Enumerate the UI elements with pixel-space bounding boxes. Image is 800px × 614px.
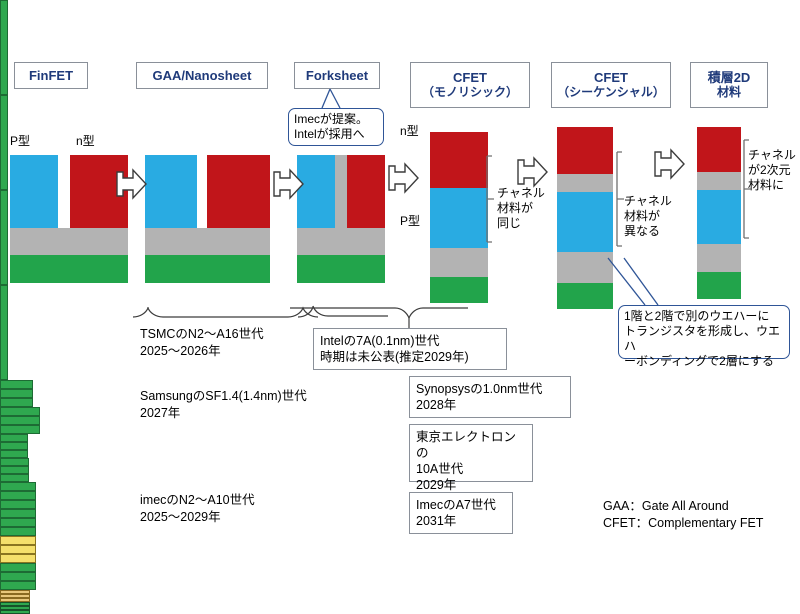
stacked2d-bonding-layer: [697, 172, 741, 190]
stacked2d-n-type-region: [697, 127, 741, 172]
title-forksheet-main: Forksheet: [306, 68, 368, 83]
legend-abbreviations: GAA：Gate All Around CFET：Complementary F…: [603, 498, 793, 532]
roadmap-box-tel: 東京エレクトロンの 10A世代 2029年: [409, 424, 533, 482]
roadmap-text-tsmc: TSMCのN2～A16世代 2025～2026年: [140, 326, 340, 360]
forksheet-p-type-region: [297, 155, 335, 228]
cfet-mono-nanosheet-p: [0, 527, 36, 536]
cfet-seq-p-type-region: [557, 192, 613, 252]
title-cfet-mono-sub: （モノリシック）: [422, 85, 518, 100]
gaa-nanosheet: [0, 398, 33, 407]
title-box-cfet-sequential: CFET （シーケンシャル）: [551, 62, 671, 108]
cfet-mono-nanosheet-p: [0, 509, 36, 518]
diagram-gaa-nanosheet: [0, 380, 800, 434]
forksheet-substrate: [297, 255, 385, 283]
cfet-seq-nanosheet-n: [0, 554, 36, 563]
gaa-substrate: [145, 255, 270, 283]
forksheet-n-type-region: [347, 155, 385, 228]
cfet-seq-isolation-lower: [557, 252, 613, 283]
title-box-stacked-2d: 積層2D 材料: [690, 62, 768, 108]
note-stacked2d-channel: チャネル が2次元 材料に: [748, 148, 800, 193]
forksheet-nanosheet: [0, 434, 28, 442]
cfet-seq-nanosheet-n: [0, 545, 36, 554]
finfet-fin: [0, 190, 8, 285]
roadmap-box-intel: Intelの7A(0.1nm)世代 時期は未公表(推定2029年): [313, 328, 507, 370]
gaa-isolation: [145, 228, 270, 255]
diagram-stacked-2d: [0, 590, 800, 614]
title-stacked2d-sub: 材料: [717, 85, 741, 100]
finfet-fin: [0, 0, 8, 95]
gaa-nanosheet: [0, 407, 40, 416]
cfet-seq-nanosheet-n: [0, 536, 36, 545]
title-stacked2d-main: 積層2D: [708, 70, 751, 85]
cfet-seq-substrate: [557, 283, 613, 309]
finfet-n-type-region: [70, 155, 128, 228]
label-cfet-mono-n-type: n型: [400, 124, 419, 138]
cfet-mono-nanosheet-n: [0, 491, 36, 500]
finfet-p-type-region: [10, 155, 58, 228]
note-cfet-seq-channel: チャネル 材料が 異なる: [624, 194, 686, 239]
finfet-substrate: [10, 255, 128, 283]
cfet-mono-nanosheet-n: [0, 482, 36, 491]
cfet-seq-n-type-region: [557, 127, 613, 174]
gaa-nanosheet: [0, 425, 40, 434]
stacked2d-channel-p: [0, 610, 30, 614]
title-finfet-main: FinFET: [29, 68, 73, 83]
roadmap-text-imec-n2: imecのN2～A10世代 2025～2029年: [140, 492, 350, 526]
forksheet-nanosheet: [0, 442, 28, 450]
forksheet-nanosheet: [0, 466, 29, 474]
cfet-mono-n-type-region: [430, 132, 488, 188]
cfet-seq-nanosheet-p: [0, 572, 36, 581]
roadmap-box-imec-a7: ImecのA7世代 2031年: [409, 492, 513, 534]
forksheet-nanosheet: [0, 474, 29, 482]
cfet-mono-nanosheet-n: [0, 500, 36, 509]
stacked2d-isolation-lower: [697, 244, 741, 272]
finfet-fin: [0, 285, 8, 380]
callout-forksheet-note: Imecが提案。 Intelが採用へ: [288, 108, 384, 146]
stacked2d-substrate: [697, 272, 741, 299]
forksheet-isolation: [297, 228, 385, 255]
finfet-isolation: [10, 228, 128, 255]
cfet-seq-bonding-layer: [557, 174, 613, 192]
roadmap-box-synopsys: Synopsysの1.0nm世代 2028年: [409, 376, 571, 418]
figure-canvas: FinFET GAA/Nanosheet Forksheet CFET （モノリ…: [0, 0, 800, 600]
cfet-mono-nanosheet-p: [0, 518, 36, 527]
roadmap-text-samsung: SamsungのSF1.4(1.4nm)世代 2027年: [140, 388, 370, 422]
gaa-nanosheet: [0, 380, 33, 389]
title-box-cfet-monolithic: CFET （モノリシック）: [410, 62, 530, 108]
label-cfet-mono-p-type: P型: [400, 214, 420, 228]
diagram-cfet-sequential: [0, 536, 800, 590]
cfet-seq-nanosheet-p: [0, 581, 36, 590]
title-cfet-seq-main: CFET: [594, 70, 628, 85]
note-cfet-mono-channel: チャネル 材料が 同じ: [497, 186, 559, 231]
cfet-mono-substrate: [430, 277, 488, 303]
forksheet-nanosheet: [0, 458, 29, 466]
gaa-nanosheet: [0, 416, 40, 425]
title-box-finfet: FinFET: [14, 62, 88, 89]
stacked2d-p-type-region: [697, 190, 741, 244]
cfet-seq-nanosheet-p: [0, 563, 36, 572]
label-finfet-p-type: P型: [10, 134, 30, 148]
forksheet-dielectric-wall: [335, 155, 347, 228]
diagram-forksheet: [0, 434, 800, 482]
cfet-mono-isolation: [430, 248, 488, 277]
callout-wafer-bonding-note: 1階と2階で別のウエハーに トランジスタを形成し、ウエハ ーボンディングで2層に…: [618, 305, 790, 359]
forksheet-nanosheet: [0, 450, 28, 458]
cfet-mono-p-type-region: [430, 188, 488, 248]
title-cfet-mono-main: CFET: [453, 70, 487, 85]
title-box-gaa: GAA/Nanosheet: [136, 62, 268, 89]
title-gaa-main: GAA/Nanosheet: [153, 68, 252, 83]
finfet-fin: [0, 95, 8, 190]
title-cfet-seq-sub: （シーケンシャル）: [557, 85, 665, 100]
gaa-p-type-region: [145, 155, 197, 228]
gaa-nanosheet: [0, 389, 33, 398]
label-finfet-n-type: n型: [76, 134, 95, 148]
gaa-n-type-region: [207, 155, 270, 228]
title-box-forksheet: Forksheet: [294, 62, 380, 89]
